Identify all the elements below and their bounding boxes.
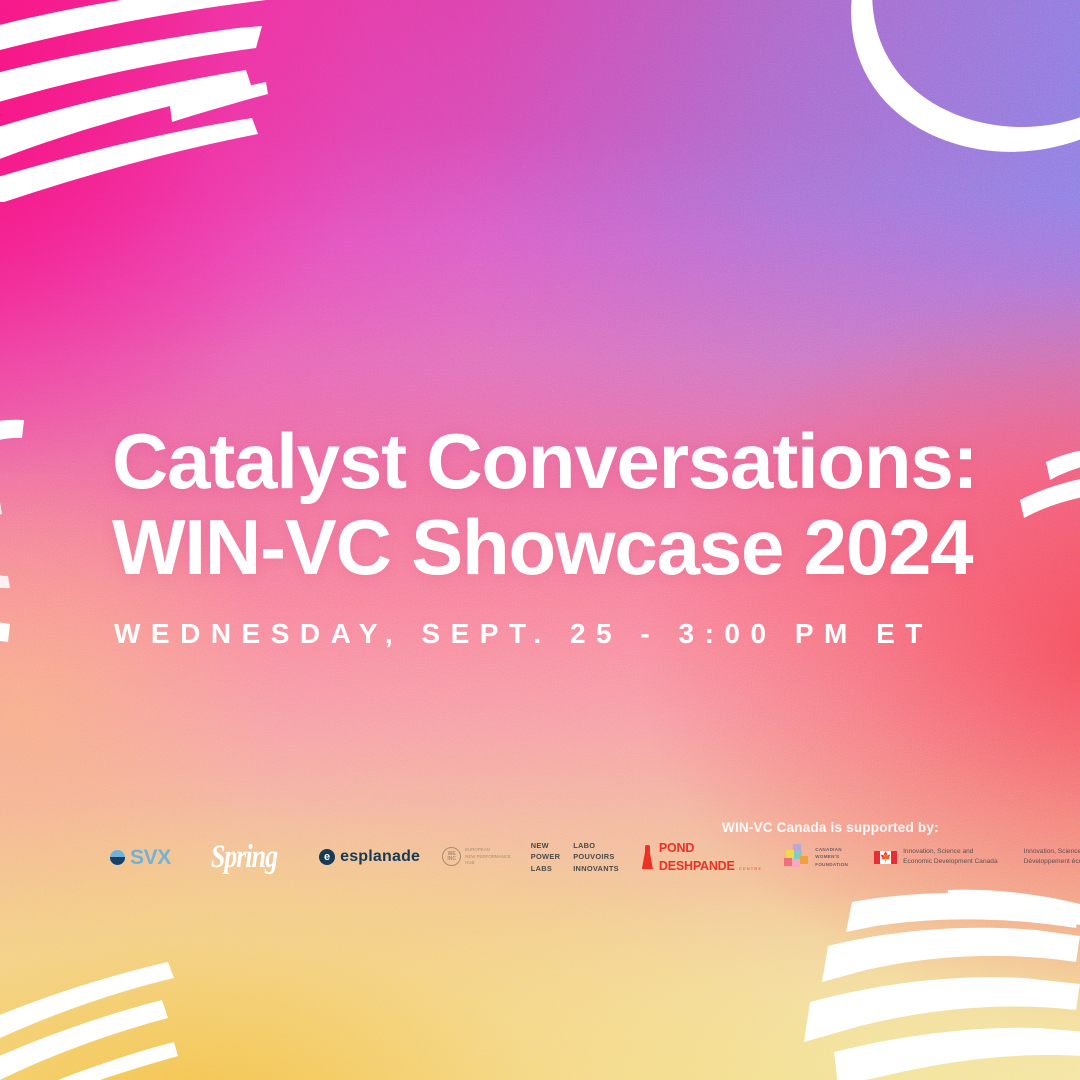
- ised-canada-en: Innovation, Science and Economic Develop…: [903, 847, 998, 867]
- logo-we-seal[interactable]: WE INC EUROPEAN NEW PERFORMANCE HUB: [442, 847, 511, 867]
- we-seal-body-text: EUROPEAN NEW PERFORMANCE HUB: [465, 847, 511, 867]
- logo-esplanade[interactable]: esplanade: [319, 849, 420, 865]
- logo-government-of-canada[interactable]: 🍁 Innovation, Science and Economic Devel…: [874, 847, 1080, 867]
- event-promo-poster: Catalyst Conversations: WIN-VC Showcase …: [0, 0, 1080, 1080]
- lighthouse-icon: [641, 845, 654, 869]
- we-seal-icon: WE INC: [442, 847, 461, 866]
- logo-pond-deshpande[interactable]: POND DESHPANDE CENTRE: [641, 839, 762, 875]
- new-power-labs-en: NEW POWER LABS: [531, 840, 560, 874]
- cwf-mosaic-icon: [784, 844, 810, 870]
- esplanade-wordmark: esplanade: [340, 849, 420, 865]
- svx-wordmark: SVX: [130, 847, 171, 868]
- svx-mark-icon: [110, 850, 125, 865]
- canada-flag-icon: 🍁: [874, 851, 897, 864]
- partner-logo-bar: SVX Spring esplanade WE INC EUROPEAN NEW…: [110, 836, 980, 878]
- pond-deshpande-text-group: POND DESHPANDE CENTRE: [659, 839, 762, 875]
- we-seal-text: WE INC: [443, 852, 460, 863]
- logo-spring[interactable]: Spring: [211, 844, 277, 870]
- esplanade-e-icon: [319, 849, 335, 865]
- spring-wordmark: Spring: [211, 841, 277, 874]
- event-date-time: WEDNESDAY, SEPT. 25 - 3:00 PM ET: [114, 618, 933, 650]
- new-power-labs-fr: LABO POUVOIRS INNOVANTS: [573, 840, 619, 874]
- cwf-wordmark: CANADIAN WOMEN'S FOUNDATION: [815, 846, 848, 869]
- logo-new-power-labs[interactable]: NEW POWER LABS LABO POUVOIRS INNOVANTS: [531, 840, 619, 874]
- page-title: Catalyst Conversations: WIN-VC Showcase …: [112, 418, 1002, 590]
- supported-by-label: WIN-VC Canada is supported by:: [722, 820, 939, 835]
- logo-canadian-womens-foundation[interactable]: CANADIAN WOMEN'S FOUNDATION: [784, 844, 848, 870]
- logo-svx[interactable]: SVX: [110, 847, 171, 868]
- ised-canada-fr: Innovation, Sciences et Développement éc…: [1024, 847, 1080, 867]
- pond-deshpande-wordmark: POND DESHPANDE: [659, 841, 735, 873]
- pond-deshpande-sub: CENTRE: [739, 867, 762, 871]
